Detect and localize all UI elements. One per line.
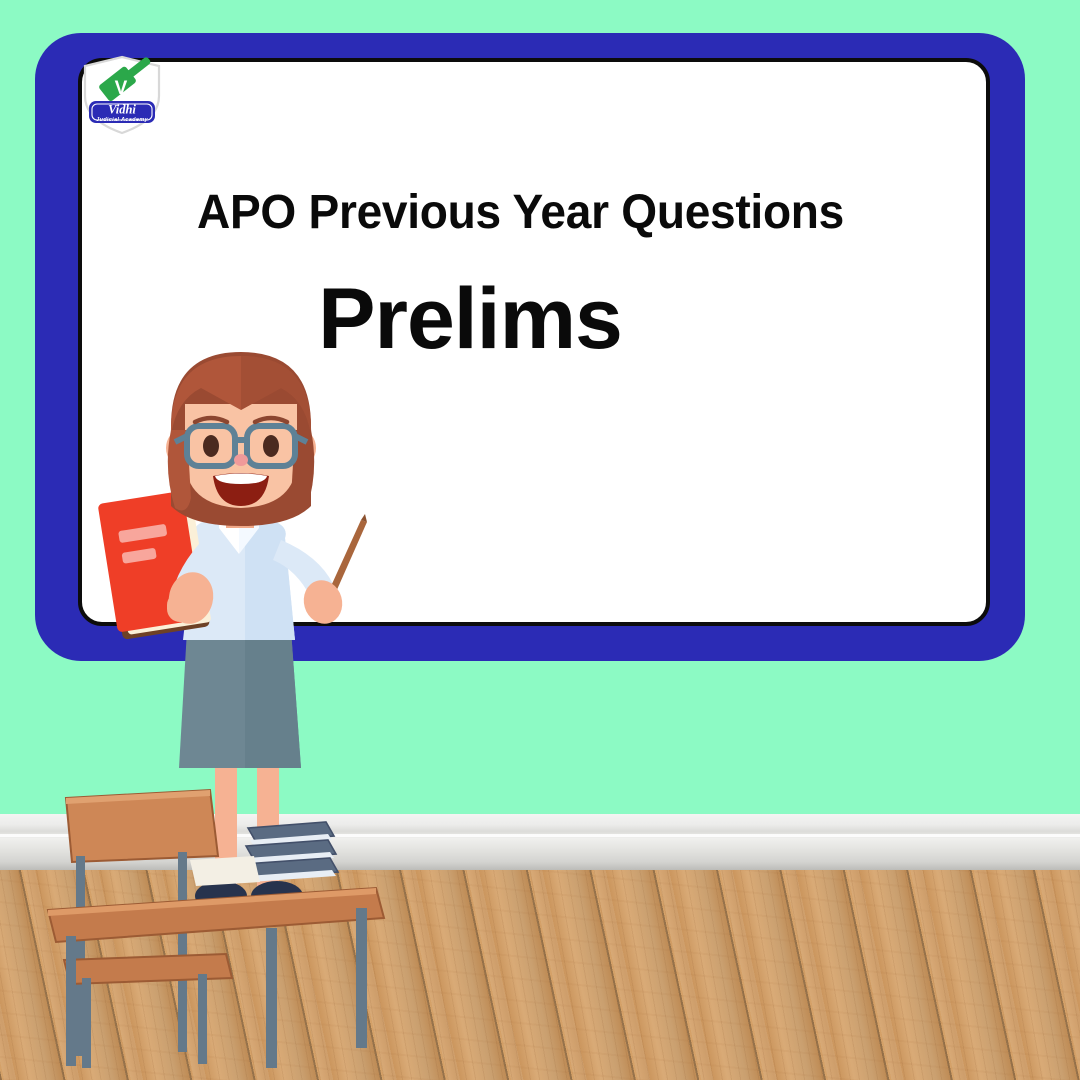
classroom-furniture: [40, 760, 440, 1080]
book-stack: [244, 822, 338, 882]
logo-tagline: Judicial Academy: [96, 117, 148, 123]
nose-blush: [234, 454, 248, 466]
slide-canvas: V Vidhi Judicial Academy APO Previous Ye…: [0, 0, 1080, 1080]
eye-right: [263, 435, 279, 457]
eye-left: [203, 435, 219, 457]
logo-name: Vidhi: [108, 103, 136, 117]
logo-monogram: V: [115, 78, 128, 99]
page-title: APO Previous Year Questions: [197, 185, 927, 240]
vidhi-judicial-academy-logo: V Vidhi Judicial Academy: [77, 54, 167, 136]
